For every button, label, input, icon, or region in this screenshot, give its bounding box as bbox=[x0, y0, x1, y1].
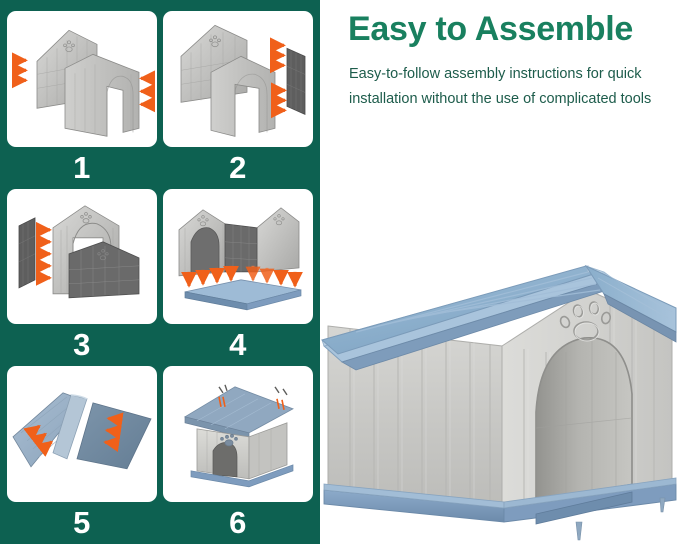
assembly-step-6: 6 bbox=[163, 366, 313, 544]
assembly-step-4-card bbox=[163, 189, 313, 325]
assembly-step-3-number: 3 bbox=[7, 324, 157, 366]
assembly-step-2-number: 2 bbox=[163, 147, 313, 189]
page-title: Easy to Assemble bbox=[348, 11, 633, 48]
assembly-step-5: 5 bbox=[7, 366, 157, 544]
assembly-step-5-number: 5 bbox=[7, 502, 157, 544]
assembly-step-3: 3 bbox=[7, 189, 157, 367]
assembly-step-6-icon bbox=[163, 366, 313, 502]
assembly-step-4-icon bbox=[163, 189, 313, 325]
assembly-step-5-icon bbox=[7, 366, 157, 502]
assembly-step-1-icon bbox=[7, 11, 157, 147]
assembly-arrow-group-right bbox=[141, 78, 153, 104]
assembly-step-6-card bbox=[163, 366, 313, 502]
assembly-step-1-card bbox=[7, 11, 157, 147]
assembly-step-3-card bbox=[7, 189, 157, 325]
assembly-step-3-icon bbox=[7, 189, 157, 325]
assembly-step-1: 1 bbox=[7, 11, 157, 189]
assembly-step-5-card bbox=[7, 366, 157, 502]
product-hero-image bbox=[320, 228, 679, 550]
assembly-step-1-number: 1 bbox=[7, 147, 157, 189]
assembly-arrow-group-left bbox=[13, 60, 26, 80]
assembly-step-6-number: 6 bbox=[163, 502, 313, 544]
assembly-steps-panel: 1 bbox=[0, 0, 320, 544]
assembly-step-4-number: 4 bbox=[163, 324, 313, 366]
assembly-step-4: 4 bbox=[163, 189, 313, 367]
dog-house-product-image bbox=[320, 228, 679, 550]
page-description: Easy-to-follow assembly instructions for… bbox=[349, 62, 661, 112]
assembly-step-2: 2 bbox=[163, 11, 313, 189]
assembly-step-2-icon bbox=[163, 11, 313, 147]
assembly-step-2-card bbox=[163, 11, 313, 147]
content-panel: Easy to Assemble Easy-to-follow assembly… bbox=[320, 0, 679, 550]
